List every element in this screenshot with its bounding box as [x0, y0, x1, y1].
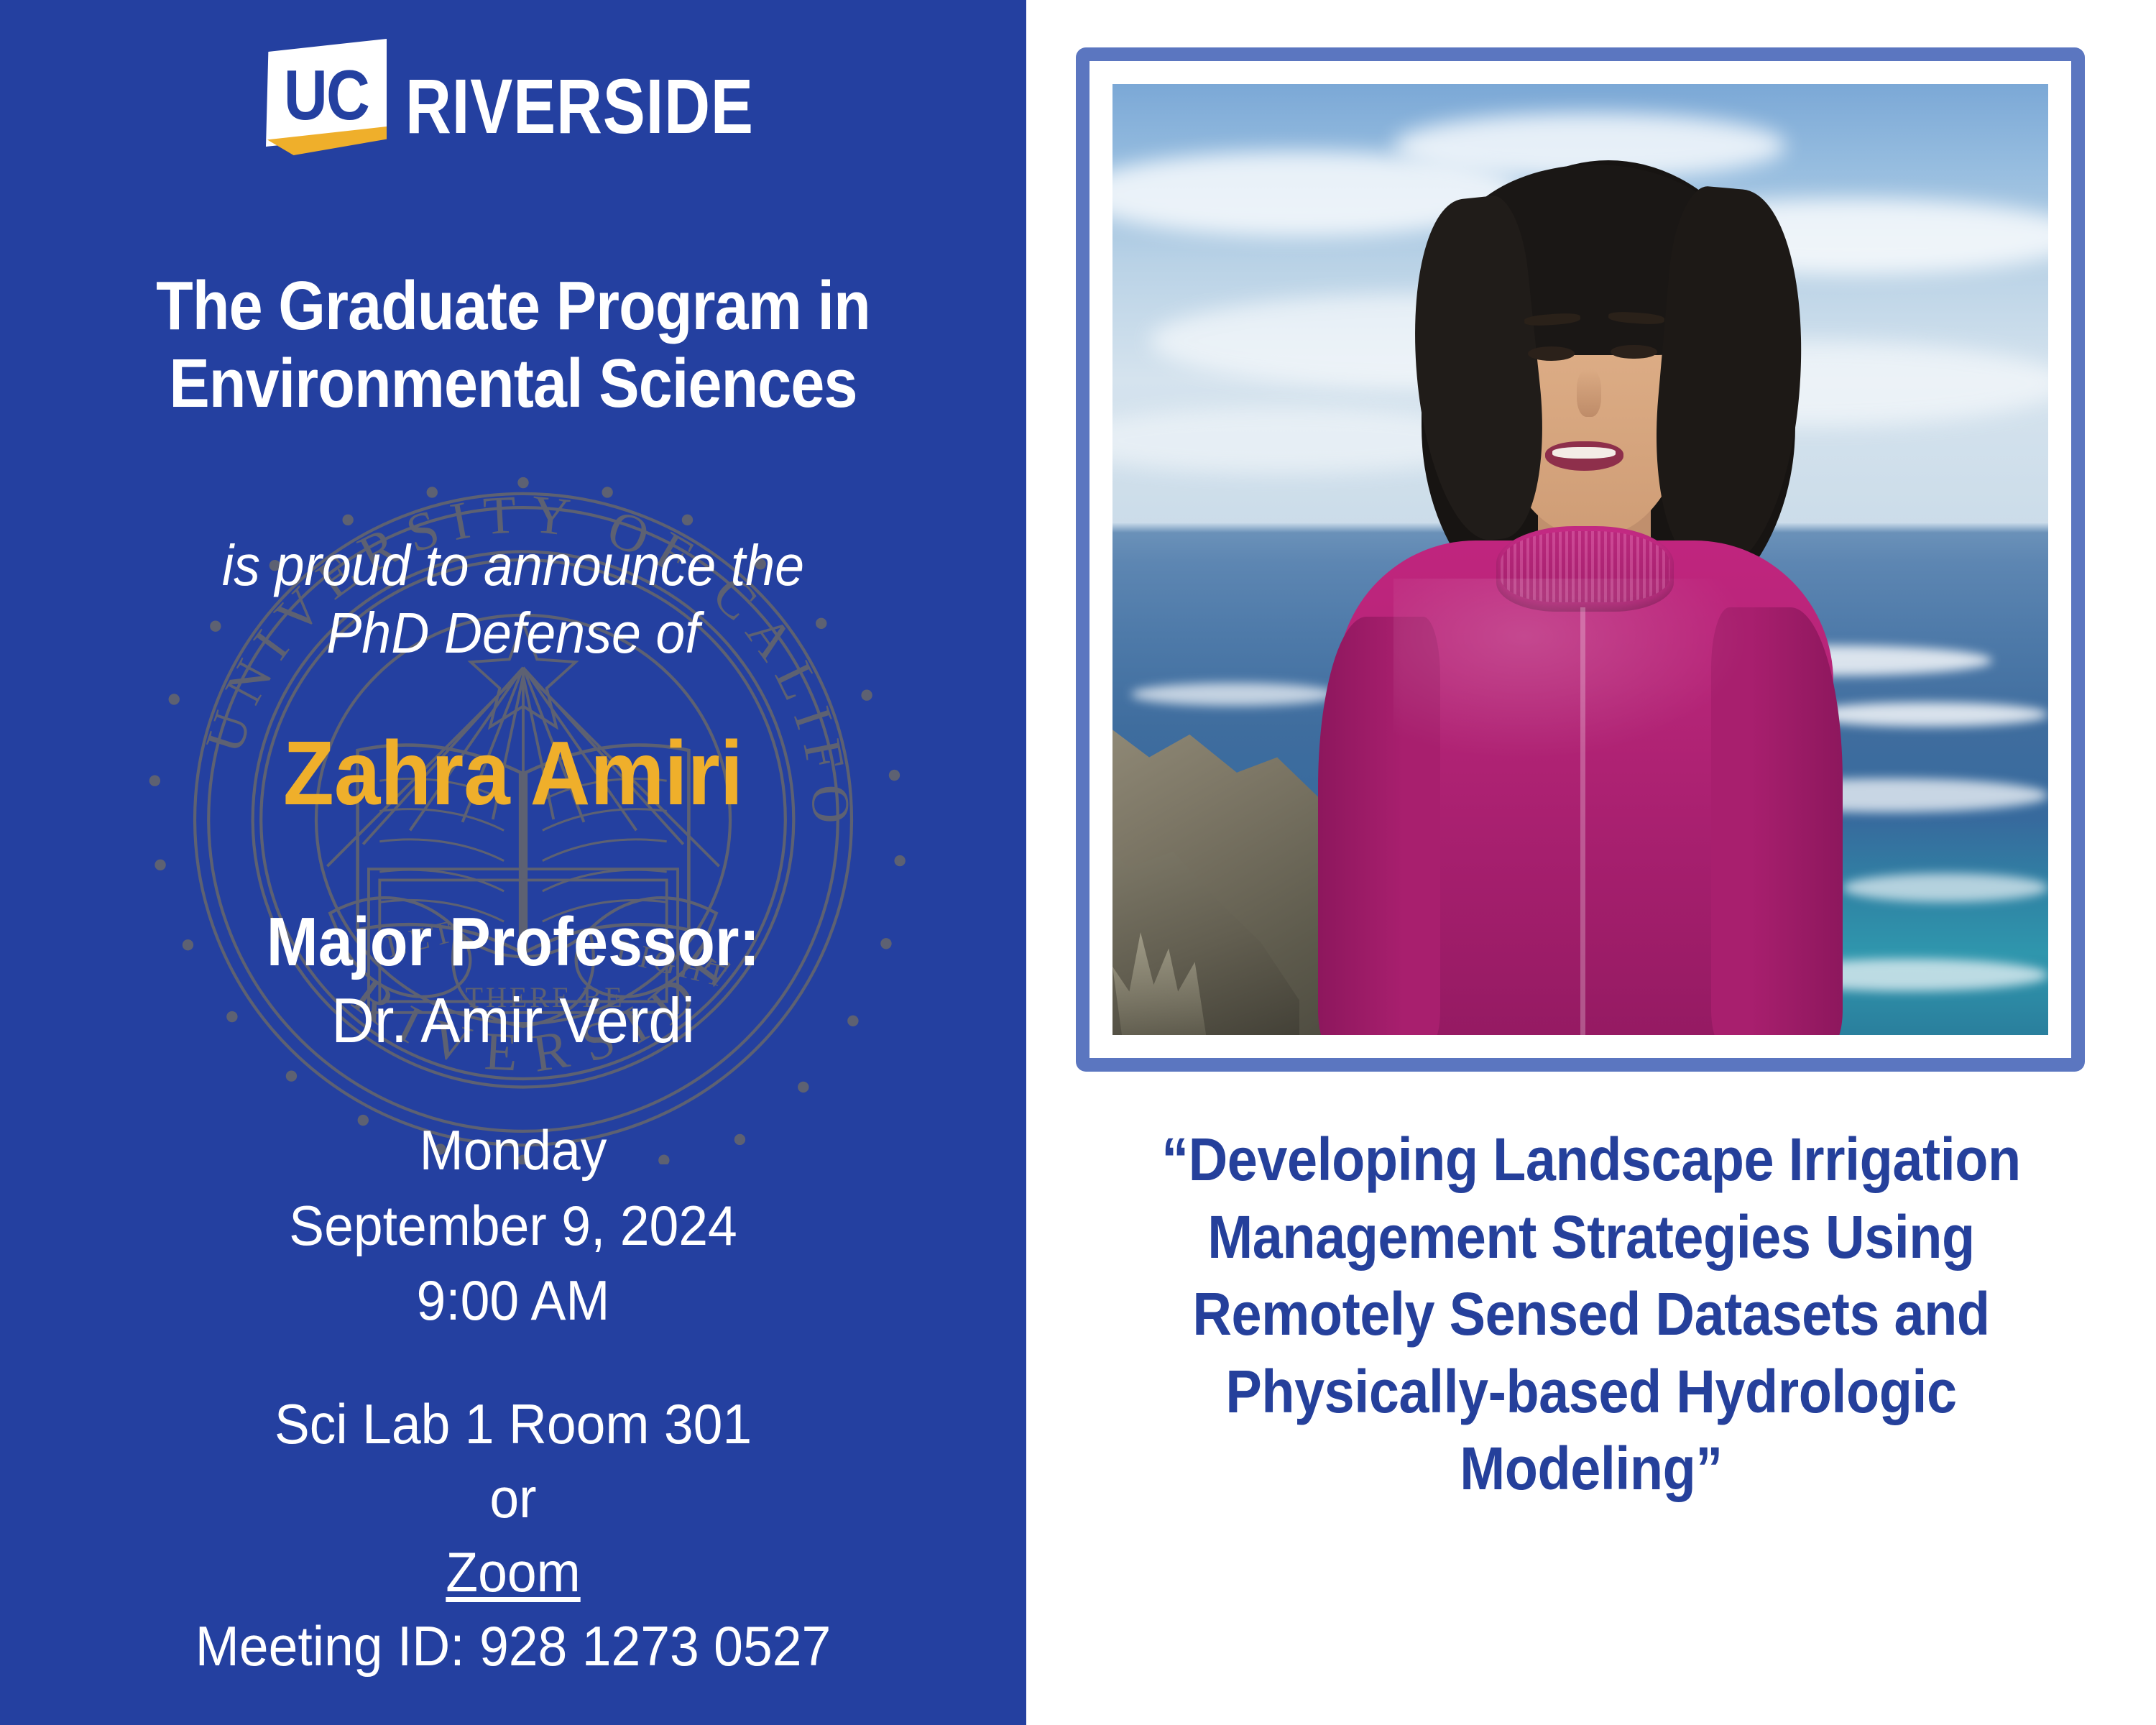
zoom-link[interactable]: Zoom — [31, 1535, 995, 1609]
person-teeth — [1552, 447, 1616, 459]
left-info-panel: UNIVERSITY OF CALIFORNIA RIVERSIDE — [0, 0, 1026, 1725]
defense-date: September 9, 2024 — [31, 1188, 995, 1264]
uc-logo-mark-icon: UC — [266, 34, 387, 155]
phd-defense-announcement-poster: UNIVERSITY OF CALIFORNIA RIVERSIDE — [0, 0, 2156, 1725]
program-title: The Graduate Program in Environmental Sc… — [62, 267, 965, 422]
person-eye-left — [1528, 346, 1575, 361]
zoom-link-label[interactable]: Zoom — [446, 1540, 580, 1604]
announcement-line-2: PhD Defense of — [41, 599, 985, 667]
announcement-text: is proud to announce the PhD Defense of — [41, 532, 985, 668]
person-sweater-highlight — [1393, 579, 1768, 769]
defense-time: 9:00 AM — [31, 1263, 995, 1338]
candidate-name: Zahra Amiri — [41, 726, 985, 821]
dissertation-title: “Developing Landscape Irrigation Managem… — [1114, 1121, 2068, 1508]
person-nose — [1577, 369, 1601, 417]
uc-logo-wordmark: RIVERSIDE — [405, 68, 754, 155]
defense-location: Sci Lab 1 Room 301 or Zoom Meeting ID: 9… — [31, 1387, 995, 1683]
location-or-separator: or — [31, 1461, 995, 1535]
uc-logo-letters: UC — [275, 55, 378, 135]
candidate-photo-frame — [1076, 47, 2085, 1072]
defense-day: Monday — [31, 1113, 995, 1188]
right-content-panel: “Developing Landscape Irrigation Managem… — [1026, 0, 2156, 1725]
zoom-meeting-id: Meeting ID: 928 1273 0527 — [31, 1609, 995, 1683]
announcement-line-1: is proud to announce the — [41, 532, 985, 599]
major-professor-name: Dr. Amir Verdi — [31, 986, 995, 1056]
uc-riverside-logo: UC RIVERSIDE — [266, 34, 830, 155]
person-eye-right — [1611, 345, 1657, 359]
candidate-photo — [1112, 84, 2048, 1035]
defense-datetime: Monday September 9, 2024 9:00 AM — [31, 1113, 995, 1338]
defense-room: Sci Lab 1 Room 301 — [31, 1387, 995, 1461]
photo-person — [1112, 84, 2048, 1035]
major-professor-label: Major Professor: — [51, 904, 975, 980]
